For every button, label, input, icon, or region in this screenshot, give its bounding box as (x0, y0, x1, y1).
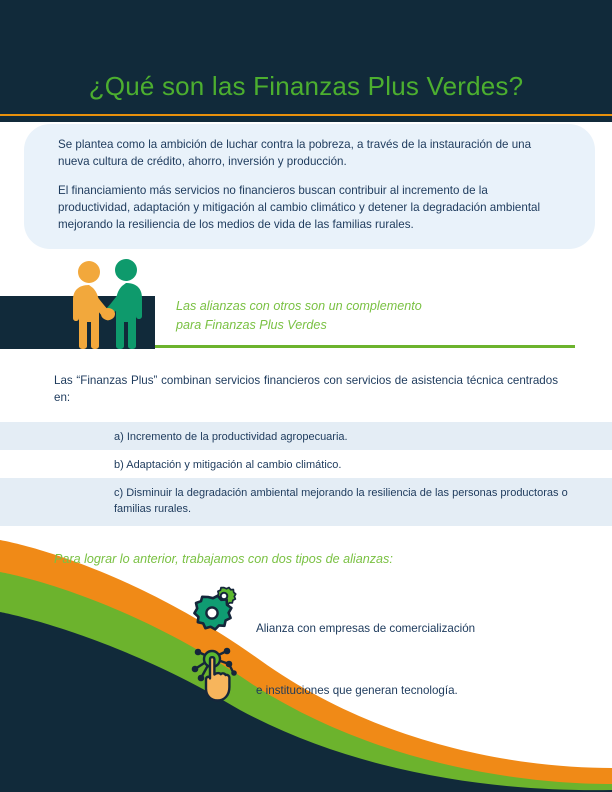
handshake-icon (64, 258, 148, 350)
gears-icon (186, 585, 246, 643)
header-bottom-band (0, 116, 612, 122)
list-item-text-b: b) Adaptación y mitigación al cambio cli… (114, 457, 574, 473)
alliance-type-row-1: Alianza con empresas de comercialización (186, 585, 586, 643)
alliance-type-label-2: e instituciones que generan tecnología. (256, 645, 586, 703)
list-item: b) Adaptación y mitigación al cambio cli… (0, 450, 612, 478)
intro-paragraph-1: Se plantea como la ambición de luchar co… (58, 136, 558, 170)
alliance-green-rule (155, 345, 575, 348)
alliance-caption: Las alianzas con otros son un complement… (176, 297, 556, 335)
alliance-type-label-1: Alianza con empresas de comercialización (256, 585, 586, 643)
page-title: ¿Qué son las Finanzas Plus Verdes? (0, 0, 612, 114)
closing-title: Para lograr lo anterior, trabajamos con … (54, 550, 554, 568)
alliance-caption-line-2: para Finanzas Plus Verdes (176, 316, 556, 335)
intro-text-block: Se plantea como la ambición de luchar co… (58, 136, 558, 233)
list-item-text-a: a) Incremento de la productividad agrope… (114, 429, 574, 445)
finanzas-plus-intro: Las “Finanzas Plus” combinan servicios f… (54, 372, 558, 406)
page-root: ¿Qué son las Finanzas Plus Verdes? Se pl… (0, 0, 612, 792)
network-touch-icon (186, 645, 246, 703)
intro-paragraph-2: El financiamiento más servicios no finan… (58, 182, 558, 233)
alliance-caption-line-1: Las alianzas con otros son un complement… (176, 297, 556, 316)
list-item: a) Incremento de la productividad agrope… (0, 422, 612, 450)
alliance-type-row-2: e instituciones que generan tecnología. (186, 645, 586, 703)
